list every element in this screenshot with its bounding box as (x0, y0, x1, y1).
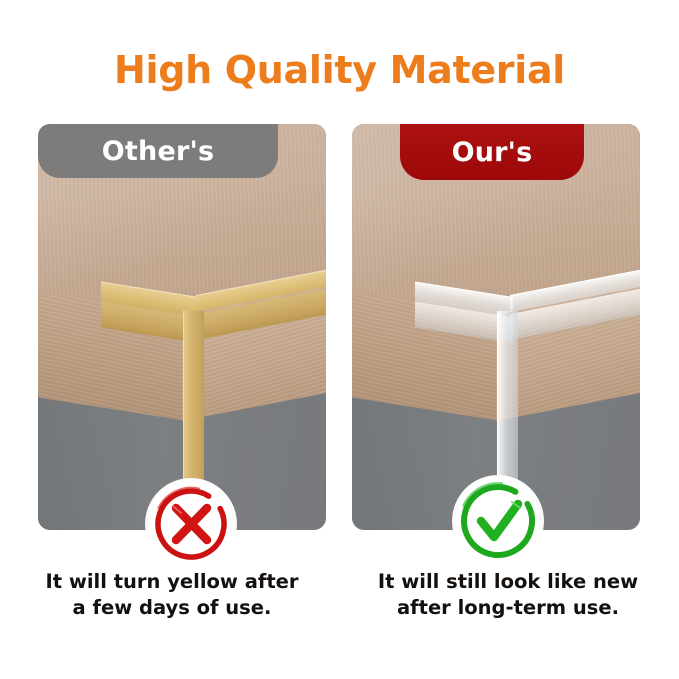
comparison-panel-ours: Our's (352, 124, 640, 530)
badge-ours: Our's (400, 124, 584, 180)
caption-other: It will turn yellow after a few days of … (12, 569, 332, 622)
badge-other: Other's (38, 124, 278, 178)
photo-other-yellowed-guard (38, 124, 326, 530)
page-title: High Quality Material (0, 48, 679, 92)
edge-guard-corner (497, 311, 517, 482)
caption-ours: It will still look like new after long-t… (348, 569, 668, 622)
caption-ours-line2: after long-term use. (348, 595, 668, 621)
caption-other-line1: It will turn yellow after (45, 570, 298, 593)
comparison-panel-other: Other's (38, 124, 326, 530)
x-mark-icon (145, 478, 237, 570)
caption-other-line2: a few days of use. (12, 595, 332, 621)
product-comparison-graphic: High Quality Material Other's (0, 0, 679, 679)
edge-guard-corner (183, 311, 203, 482)
check-mark-icon (452, 475, 544, 567)
caption-ours-line1: It will still look like new (378, 570, 638, 593)
photo-ours-clear-guard (352, 124, 640, 530)
